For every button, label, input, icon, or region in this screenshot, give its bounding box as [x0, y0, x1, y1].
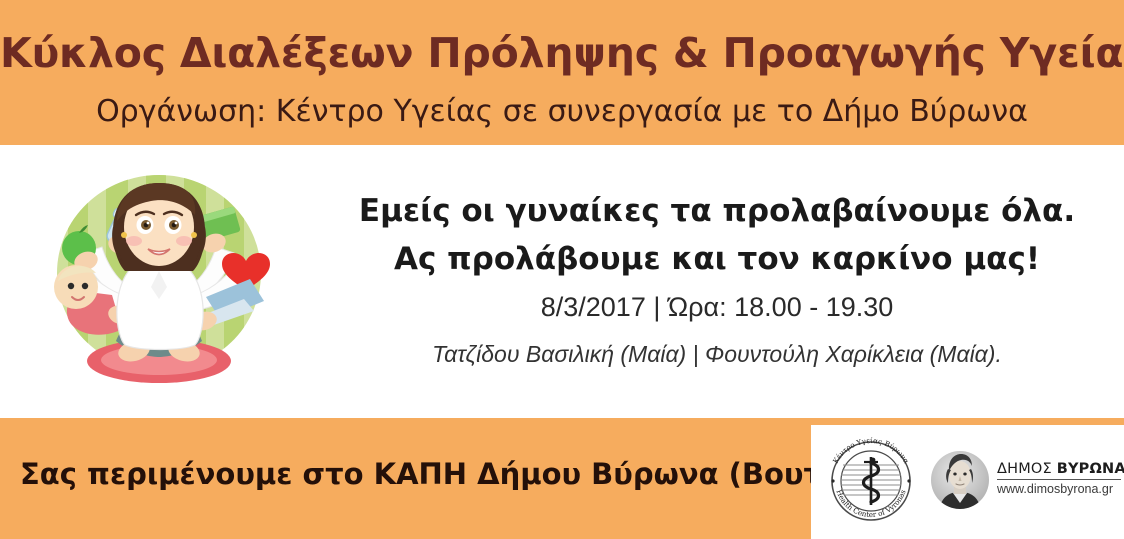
event-date-time: 8/3/2017 | Ώρα: 18.00 - 19.30 — [310, 292, 1124, 323]
dimos-byrona-url: www.dimosbyrona.gr — [997, 482, 1121, 496]
health-center-seal: Κέντρο Υγείας Βύρωνα Health Center of Vy… — [821, 431, 921, 531]
dimos-byrona-title: ΔΗΜΟΣ ΒΥΡΩΝΑ — [997, 461, 1121, 480]
dimos-byrona-text: ΔΗΜΟΣ ΒΥΡΩΝΑ www.dimosbyrona.gr — [997, 461, 1121, 496]
logo-container: Κέντρο Υγείας Βύρωνα Health Center of Vy… — [811, 425, 1124, 539]
page-title: Κύκλος Διαλέξεων Πρόληψης & Προαγωγής Υγ… — [0, 32, 1124, 75]
event-heading-line-1: Εμείς οι γυναίκες τα προλαβαίνουμε όλα. — [310, 193, 1124, 229]
header-band: Κύκλος Διαλέξεων Πρόληψης & Προαγωγής Υγ… — [0, 0, 1124, 145]
page-subtitle: Οργάνωση: Κέντρο Υγείας σε συνεργασία με… — [0, 95, 1124, 128]
dimos-byrona-logo: ΔΗΜΟΣ ΒΥΡΩΝΑ www.dimosbyrona.gr — [929, 449, 1119, 515]
multitasking-woman-illustration — [28, 165, 290, 397]
dimos-label: ΔΗΜΟΣ — [997, 461, 1057, 477]
venue-text: Σας περιμένουμε στο ΚΑΠΗ Δήμου Βύρωνα (Β… — [20, 457, 800, 491]
byrona-label: ΒΥΡΩΝΑ — [1057, 461, 1124, 477]
byron-portrait-icon — [929, 449, 991, 511]
event-heading-line-2: Ας προλάβουμε και τον καρκίνο μας! — [310, 241, 1124, 277]
event-text-block: Εμείς οι γυναίκες τα προλαβαίνουμε όλα. … — [310, 145, 1124, 418]
event-speakers: Τατζίδου Βασιλική (Μαία) | Φουντούλη Χαρ… — [310, 341, 1124, 368]
poster-root: Κύκλος Διαλέξεων Πρόληψης & Προαγωγής Υγ… — [0, 0, 1124, 539]
main-content: Εμείς οι γυναίκες τα προλαβαίνουμε όλα. … — [0, 145, 1124, 418]
